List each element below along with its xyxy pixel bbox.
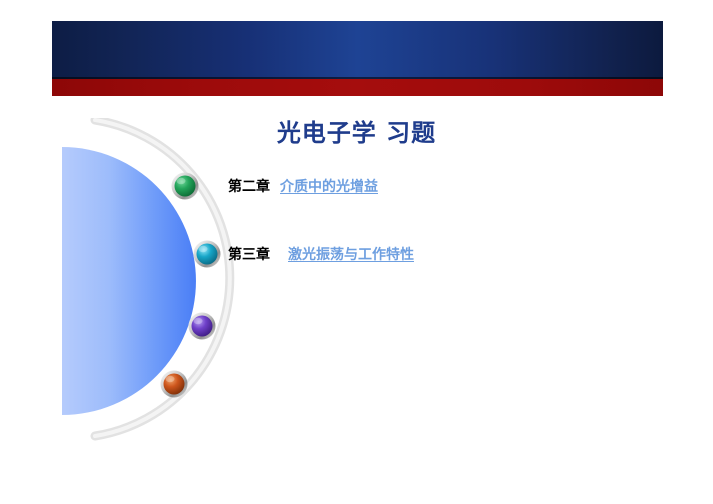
bullet-orange: [161, 371, 188, 398]
bullet-green: [172, 173, 199, 200]
decorative-graphic: [0, 118, 250, 448]
header-navy-band: [52, 21, 663, 79]
chapter-row-3: 第三章 激光振荡与工作特性: [228, 244, 698, 312]
chapter-label-3: 第三章: [228, 244, 270, 264]
chapter-label-2: 第二章: [228, 176, 270, 196]
chapter-row-2: 第二章 介质中的光增益: [228, 176, 698, 244]
bullet-teal: [194, 241, 221, 268]
header-red-band: [52, 79, 663, 96]
chapter-link-3[interactable]: 激光振荡与工作特性: [288, 244, 414, 264]
bullet-purple: [189, 313, 216, 340]
chapter-link-2[interactable]: 介质中的光增益: [280, 176, 378, 196]
slide-canvas: 光电子学 习题: [0, 0, 713, 504]
chapter-list: 第二章 介质中的光增益 第三章 激光振荡与工作特性: [228, 176, 698, 312]
